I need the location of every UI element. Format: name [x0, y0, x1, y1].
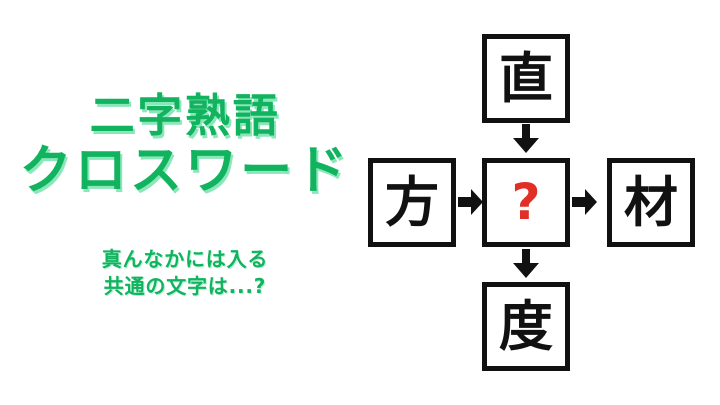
puzzle-cell-top-char: 直 — [499, 52, 553, 106]
puzzle-cell-bottom: 度 — [482, 282, 570, 371]
arrow-down-icon — [512, 249, 540, 279]
puzzle-cell-center-char: ? — [511, 177, 540, 227]
subtitle: 真んなかには入る 共通の文字は...? — [0, 246, 370, 300]
title-block: 二字熟語 クロスワード — [0, 92, 370, 199]
puzzle-cell-center-answer[interactable]: ? — [482, 158, 570, 247]
puzzle-cell-right: 材 — [607, 158, 695, 247]
puzzle-cell-left-char: 方 — [385, 176, 439, 230]
arrow-right-icon — [572, 188, 598, 216]
subtitle-line-1: 真んなかには入る — [0, 246, 370, 273]
arrow-down-icon — [512, 124, 540, 154]
puzzle-card: 二字熟語 クロスワード 真んなかには入る 共通の文字は...? 直 方 ? 材 … — [0, 0, 720, 405]
puzzle-cell-bottom-char: 度 — [499, 300, 553, 354]
puzzle-cell-right-char: 材 — [624, 176, 678, 230]
page-title-line-1: 二字熟語 — [0, 92, 370, 141]
puzzle-cell-left: 方 — [368, 158, 456, 247]
arrow-right-icon — [458, 188, 484, 216]
puzzle-cell-top: 直 — [482, 34, 570, 123]
subtitle-line-2: 共通の文字は...? — [0, 273, 370, 300]
page-title-line-2: クロスワード — [0, 143, 370, 199]
crossword-diagram: 直 方 ? 材 度 — [360, 0, 720, 405]
